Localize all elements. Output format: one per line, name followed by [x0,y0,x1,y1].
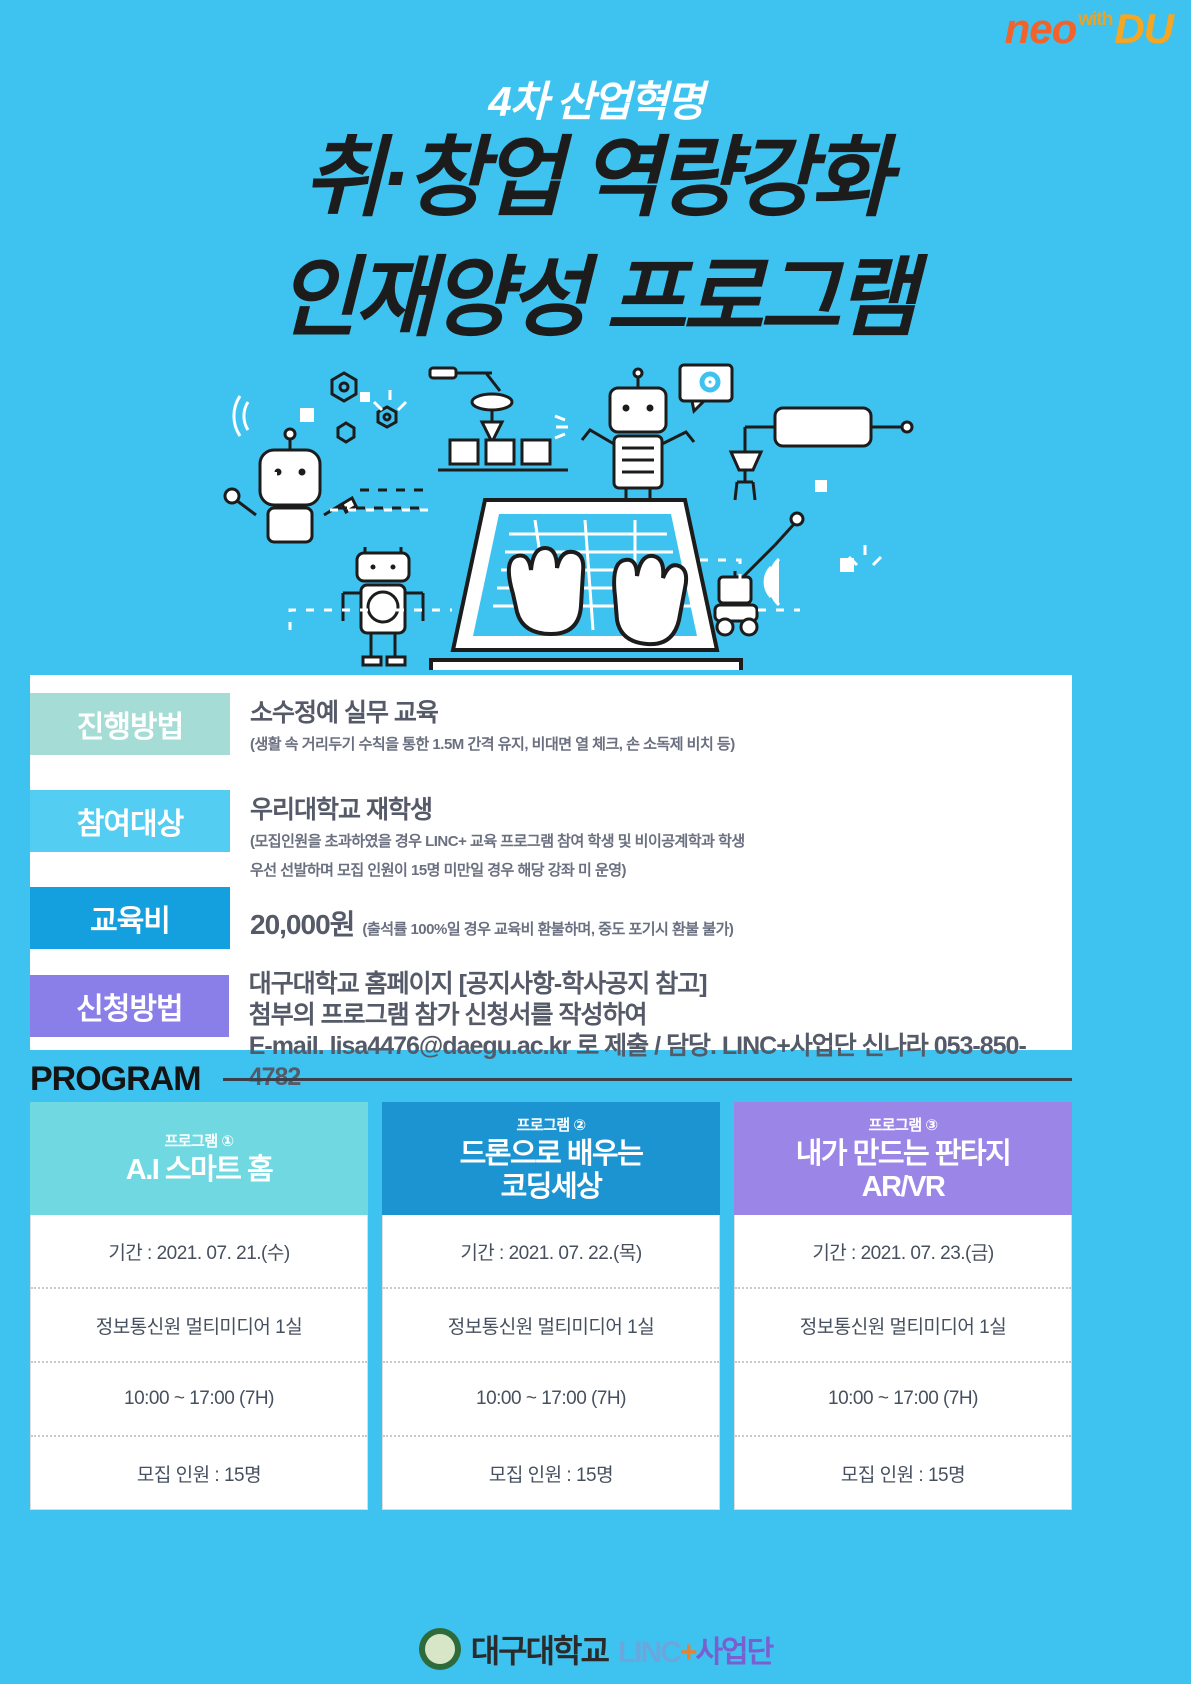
brand-with: with [1078,10,1112,29]
info-note-target-2: 우선 선발하며 모집 인원이 15명 미만일 경우 해당 강좌 미 운영) [250,859,745,880]
info-main-target: 우리대학교 재학생 [250,790,745,826]
program-card-2-head: 프로그램 ② 드론으로 배우는 코딩세상 [382,1102,720,1215]
program-card-3-body: 기간 : 2021. 07. 23.(금) 정보통신원 멀티미디어 1실 10:… [734,1215,1072,1510]
footer: 대구대학교 LINC+사업단 [0,1626,1191,1672]
fee-note: (출석률 100%일 경우 교육비 환불하며, 중도 포기시 환불 불가) [362,918,733,939]
program-card-3-title: 내가 만드는 판타지 AR/VR [796,1138,1011,1204]
program-card-3-title-line-1: 내가 만드는 판타지 [796,1138,1011,1171]
info-detail-fee: 20,000원 (출석률 100%일 경우 교육비 환불하며, 중도 포기시 환… [250,903,733,943]
brand-neo: neo [1005,8,1077,50]
program-heading-label: PROGRAM [30,1060,201,1099]
fee-amount: 20,000원 [250,903,354,943]
program-card-2-period: 기간 : 2021. 07. 22.(목) [383,1215,719,1287]
program-card-2-time: 10:00 ~ 17:00 (7H) [383,1361,719,1435]
title-line-2: 인재양성 프로그램 [0,250,1191,346]
program-card-2-capacity: 모집 인원 : 15명 [383,1435,719,1509]
program-heading-rule [223,1078,1072,1081]
info-note-target-1: (모집인원을 초과하였을 경우 LINC+ 교육 프로그램 참여 학생 및 비이… [250,830,745,851]
program-card-1-place: 정보통신원 멀티미디어 1실 [31,1287,367,1361]
info-tag-apply: 신청방법 [30,975,229,1037]
program-card-1-number: 프로그램 ① [164,1130,233,1151]
program-card-1[interactable]: 프로그램 ① A.I 스마트 홈 기간 : 2021. 07. 21.(수) 정… [30,1102,368,1510]
program-card-2-title-line-1: 드론으로 배우는 [460,1138,643,1171]
program-card-1-period: 기간 : 2021. 07. 21.(수) [31,1215,367,1287]
info-panel: 진행방법 소수정예 실무 교육 (생활 속 거리두기 수칙을 통한 1.5M 간… [30,675,1072,1050]
info-row-target: 참여대상 우리대학교 재학생 (모집인원을 초과하였을 경우 LINC+ 교육 … [30,790,745,880]
info-tag-target: 참여대상 [30,790,230,852]
program-card-1-head: 프로그램 ① A.I 스마트 홈 [30,1102,368,1215]
program-card-list: 프로그램 ① A.I 스마트 홈 기간 : 2021. 07. 21.(수) 정… [30,1102,1072,1510]
university-emblem-icon [419,1628,461,1670]
program-card-3-capacity: 모집 인원 : 15명 [735,1435,1071,1509]
program-card-1-title: A.I 스마트 홈 [126,1154,272,1187]
info-detail-method: 소수정예 실무 교육 (생활 속 거리두기 수칙을 통한 1.5M 간격 유지,… [250,693,735,754]
industry-illustration [0,360,1191,670]
info-detail-target: 우리대학교 재학생 (모집인원을 초과하였을 경우 LINC+ 교육 프로그램 … [250,790,745,880]
poster-root: neo with DU 4차 산업혁명 취·창업 역량강화 인재양성 프로그램 [0,0,1191,1684]
program-card-2-place: 정보통신원 멀티미디어 1실 [383,1287,719,1361]
program-card-2[interactable]: 프로그램 ② 드론으로 배우는 코딩세상 기간 : 2021. 07. 22.(… [382,1102,720,1510]
brand-logo: neo with DU [1005,8,1173,50]
info-note-method: (생활 속 거리두기 수칙을 통한 1.5M 간격 유지, 비대면 열 체크, … [250,733,735,754]
footer-university-name: 대구대학교 [471,1626,608,1672]
program-card-3-time: 10:00 ~ 17:00 (7H) [735,1361,1071,1435]
apply-line-1: 대구대학교 홈페이지 [공지사항-학사공지 참고] [249,969,1072,1000]
info-row-method: 진행방법 소수정예 실무 교육 (생활 속 거리두기 수칙을 통한 1.5M 간… [30,693,735,755]
program-card-3[interactable]: 프로그램 ③ 내가 만드는 판타지 AR/VR 기간 : 2021. 07. 2… [734,1102,1072,1510]
program-card-2-title: 드론으로 배우는 코딩세상 [460,1138,643,1204]
program-card-1-capacity: 모집 인원 : 15명 [31,1435,367,1509]
program-card-3-place: 정보통신원 멀티미디어 1실 [735,1287,1071,1361]
university-emblem-inner [425,1634,455,1664]
info-tag-fee: 교육비 [30,887,230,949]
program-card-1-body: 기간 : 2021. 07. 21.(수) 정보통신원 멀티미디어 1실 10:… [30,1215,368,1510]
program-card-2-number: 프로그램 ② [516,1114,585,1135]
program-card-3-number: 프로그램 ③ [868,1114,937,1135]
footer-linc-plus: + [680,1636,696,1669]
info-tag-method: 진행방법 [30,693,230,755]
brand-du: DU [1114,8,1173,50]
title-line-1: 취·창업 역량강화 [0,130,1191,226]
program-card-2-body: 기간 : 2021. 07. 22.(목) 정보통신원 멀티미디어 1실 10:… [382,1215,720,1510]
title-eyebrow: 4차 산업혁명 [0,68,1191,129]
info-main-method: 소수정예 실무 교육 [250,693,735,729]
footer-linc-logo: LINC+사업단 [618,1627,772,1671]
program-card-3-head: 프로그램 ③ 내가 만드는 판타지 AR/VR [734,1102,1072,1215]
program-card-1-time: 10:00 ~ 17:00 (7H) [31,1361,367,1435]
footer-linc-prefix: LINC [618,1636,680,1669]
program-card-3-title-line-2: AR/VR [796,1171,1011,1204]
program-card-3-period: 기간 : 2021. 07. 23.(금) [735,1215,1071,1287]
apply-line-2: 첨부의 프로그램 참가 신청서를 작성하여 [249,1000,1072,1031]
program-card-2-title-line-2: 코딩세상 [460,1171,643,1204]
program-heading: PROGRAM [30,1060,1072,1099]
info-row-fee: 교육비 20,000원 (출석률 100%일 경우 교육비 환불하며, 중도 포… [30,887,733,949]
footer-linc-unit: 사업단 [695,1636,772,1669]
